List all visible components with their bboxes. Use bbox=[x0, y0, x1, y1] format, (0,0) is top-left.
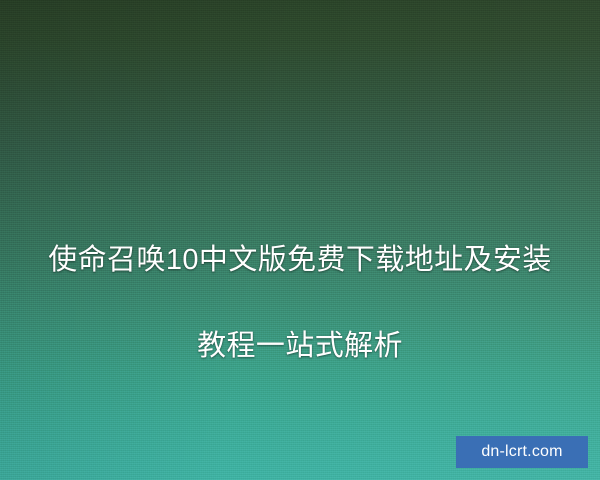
watermark-badge: dn-lcrt.com bbox=[456, 436, 588, 468]
promo-banner: 使命召唤10中文版免费下载地址及安装 教程一站式解析 dn-lcrt.com bbox=[0, 0, 600, 480]
page-title: 使命召唤10中文版免费下载地址及安装 教程一站式解析 bbox=[0, 196, 600, 368]
headline-line-1: 使命召唤10中文版免费下载地址及安装 bbox=[48, 244, 551, 276]
watermark-label: dn-lcrt.com bbox=[481, 444, 562, 460]
headline-line-2: 教程一站式解析 bbox=[197, 330, 403, 362]
